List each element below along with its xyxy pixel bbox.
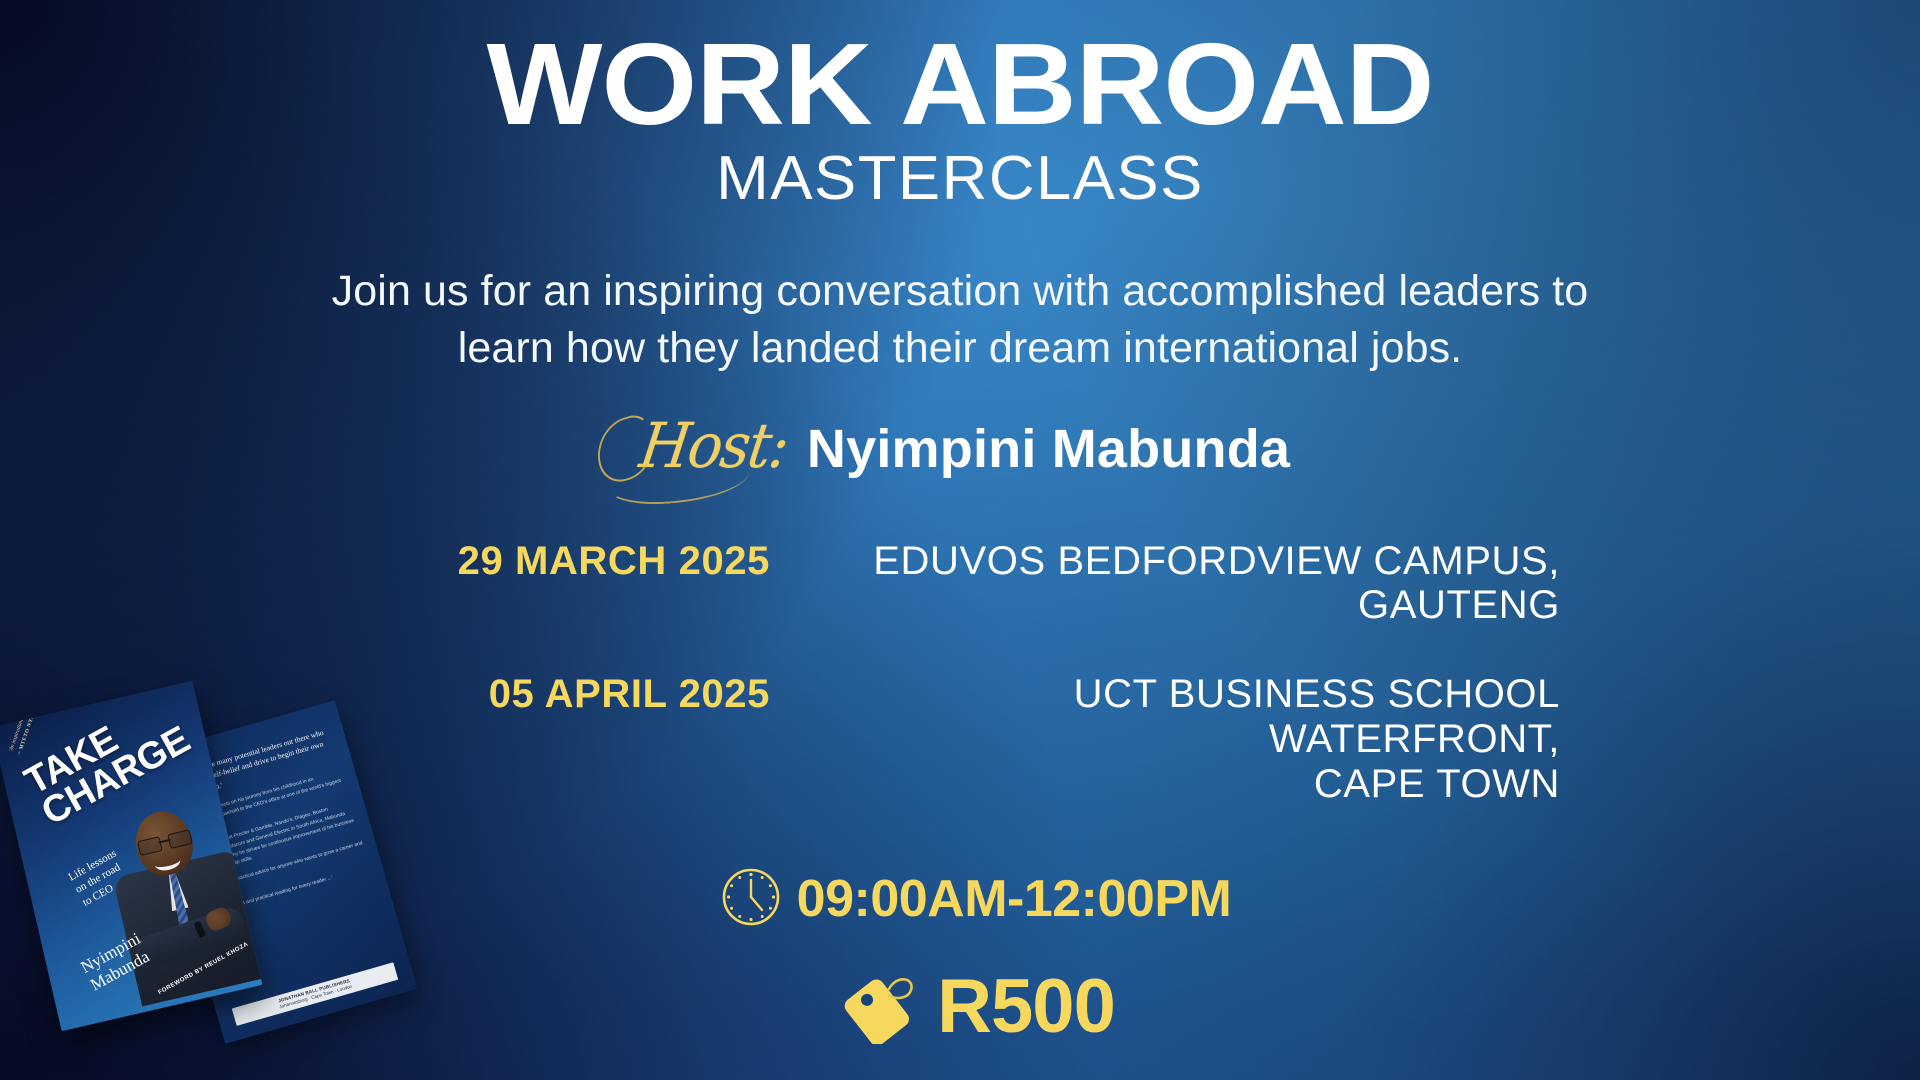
page-title: WORK ABROAD bbox=[0, 26, 1920, 142]
price-tag-icon bbox=[839, 966, 921, 1049]
book-artwork: 'I believe there are many potential lead… bbox=[8, 700, 428, 1080]
host-label: Host: bbox=[636, 415, 791, 477]
lede-paragraph: Join us for an inspiring conversation wi… bbox=[180, 263, 1740, 377]
lede-line-2: learn how they landed their dream intern… bbox=[180, 320, 1740, 377]
venue-line-1: EDUVOS BEDFORDVIEW CAMPUS, bbox=[800, 539, 1560, 584]
headline-block: WORK ABROAD MASTERCLASS bbox=[0, 0, 1920, 211]
host-row: Host: Nyimpini Mabunda bbox=[0, 415, 1920, 477]
lede-line-1: Join us for an inspiring conversation wi… bbox=[180, 263, 1740, 320]
page-subtitle: MASTERCLASS bbox=[0, 146, 1920, 211]
venue-line-2: CAPE TOWN bbox=[800, 762, 1560, 807]
poster-canvas: WORK ABROAD MASTERCLASS Join us for an i… bbox=[0, 0, 1920, 1080]
event-time: 09:00AM-12:00PM bbox=[797, 873, 1232, 925]
event-venue: UCT BUSINESS SCHOOL WATERFRONT, CAPE TOW… bbox=[800, 672, 1560, 806]
venue-line-1: UCT BUSINESS SCHOOL WATERFRONT, bbox=[800, 672, 1560, 762]
clock-icon bbox=[719, 865, 783, 934]
event-venue: EDUVOS BEDFORDVIEW CAMPUS, GAUTENG bbox=[800, 539, 1560, 629]
event-date: 29 MARCH 2025 bbox=[360, 539, 800, 584]
event-price: R500 bbox=[937, 969, 1115, 1045]
venue-line-2: GAUTENG bbox=[800, 583, 1560, 628]
host-name: Nyimpini Mabunda bbox=[807, 422, 1290, 476]
schedule-row: 29 MARCH 2025 EDUVOS BEDFORDVIEW CAMPUS,… bbox=[0, 539, 1920, 629]
